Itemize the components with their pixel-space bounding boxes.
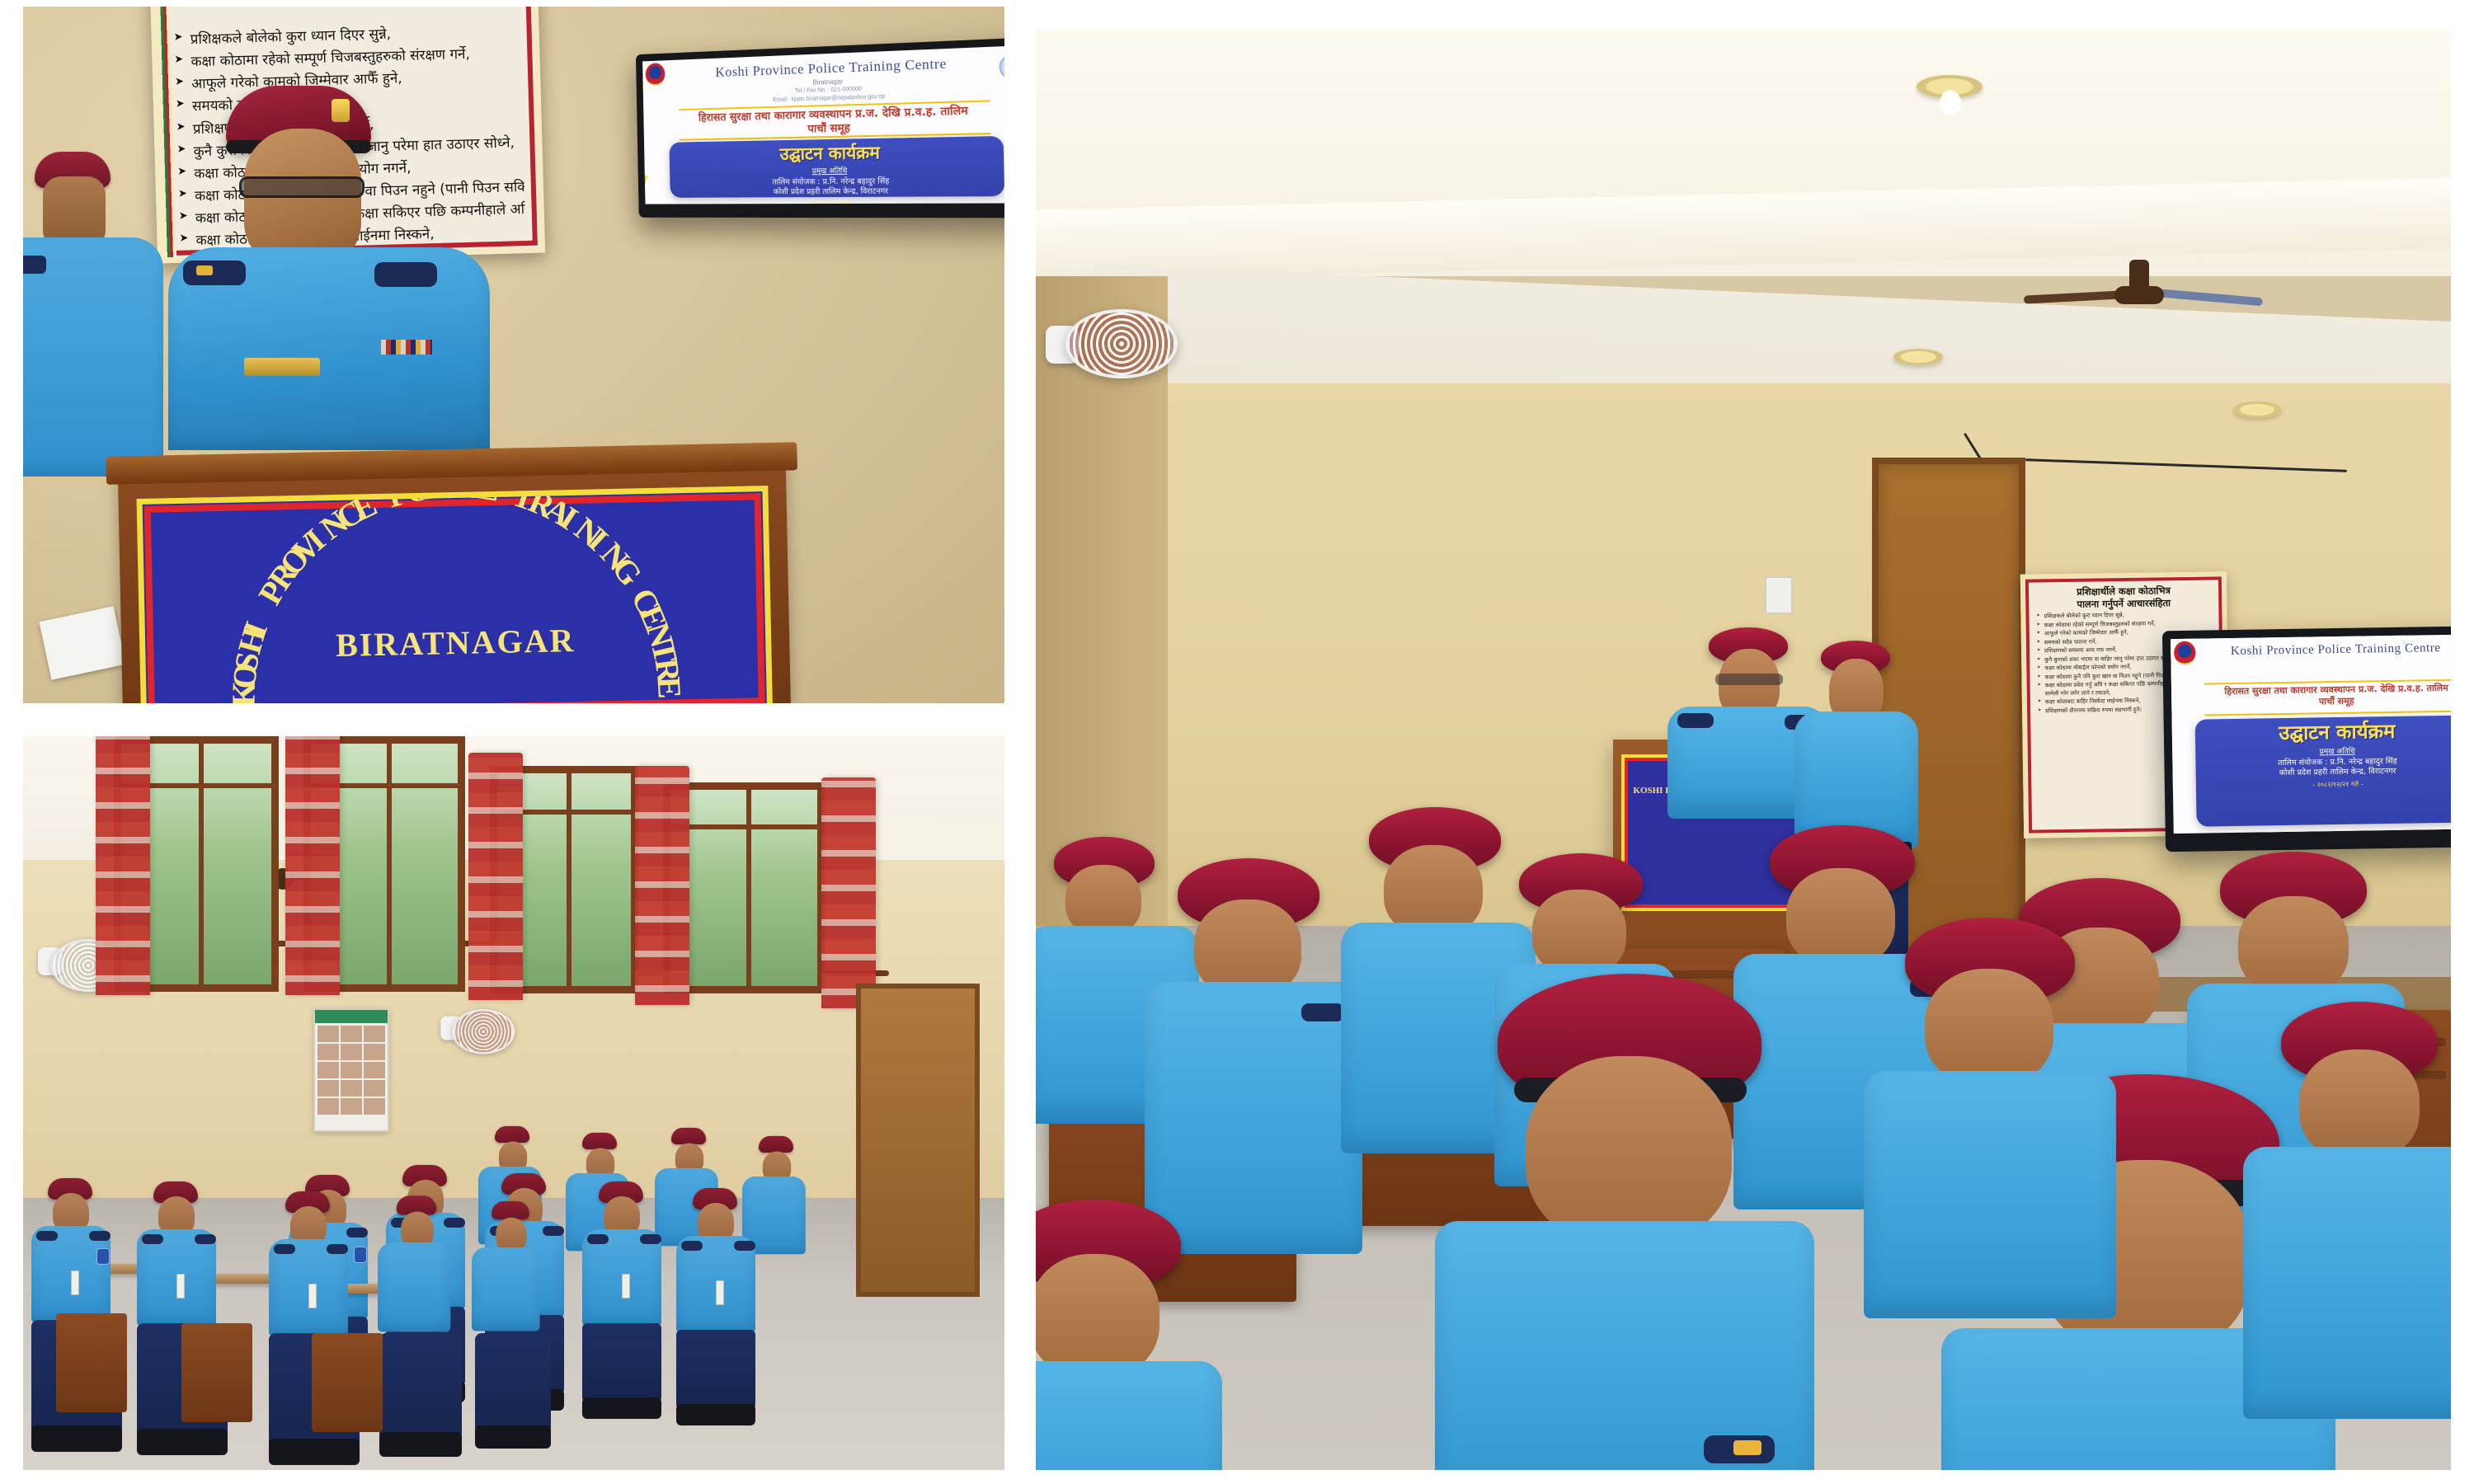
beret-badge-icon [332, 99, 350, 122]
eyeglasses-icon [239, 176, 365, 198]
boots [582, 1397, 661, 1419]
panel-classroom-wide [23, 736, 1004, 1470]
shoulder-epaulette [543, 1226, 564, 1236]
shoulder-badge-icon [97, 1249, 109, 1264]
head-back [1532, 890, 1626, 975]
police-uniform-shirt [23, 237, 163, 477]
power-socket-icon [1765, 576, 1793, 614]
wall-fan-icon [440, 1003, 518, 1062]
podium-banner-arc-letter: E [650, 675, 689, 699]
eyeglasses-icon [1715, 674, 1783, 685]
rank-insignia-icon [1733, 1440, 1761, 1455]
shoulder-epaulette [640, 1234, 661, 1244]
shoulder-epaulette [142, 1234, 163, 1244]
head-back [2299, 1050, 2420, 1160]
classroom-chair [56, 1313, 127, 1412]
podium-banner: KOSHI PROVINCE POLICE TRAINING CENTRE BI… [136, 486, 773, 703]
maroon-beret-icon [492, 1201, 529, 1219]
police-uniform-shirt [2243, 1147, 2451, 1419]
head-back [1526, 1056, 1732, 1246]
id-card-lanyard [716, 1280, 724, 1305]
window-curtain [821, 777, 876, 1008]
head-back [2238, 896, 2349, 995]
classroom-chair [312, 1333, 383, 1432]
shoulder-epaulette [444, 1218, 465, 1228]
shoulder-epaulette-left [183, 261, 246, 285]
rank-insignia-icon [196, 265, 213, 275]
wall-fan-icon [1046, 301, 1178, 400]
police-uniform-shirt [472, 1247, 540, 1331]
photo-collage: प्रशिक्षकले बोलेको कुरा ध्यान दिएर सुन्न… [0, 0, 2474, 1484]
poster-title: प्रशिक्षार्थीले कक्षा कोठाभित्र पालना गर… [2025, 584, 2222, 611]
awareness-poster [313, 1008, 389, 1132]
slide-program-heading: उद्घाटन कार्यक्रम [675, 141, 997, 164]
ceiling-light-icon [1893, 349, 1943, 365]
shoulder-epaulette [89, 1231, 111, 1241]
boots [31, 1425, 122, 1452]
window-curtain [468, 753, 523, 1000]
panel-speaker-at-podium: प्रशिक्षकले बोलेको कुरा ध्यान दिएर सुन्न… [23, 7, 1004, 703]
window-curtain [96, 736, 150, 995]
poster-title-line2: पालना गर्नुपर्ने आचारसंहिता [2077, 597, 2171, 610]
boots [269, 1439, 360, 1465]
uniform-trousers [582, 1323, 661, 1402]
shoulder-epaulette [1677, 713, 1714, 728]
poster-title-line1: प्रशिक्षार्थीले कक्षा कोठाभित्र [2077, 585, 2171, 598]
slide-program-box: उद्घाटन कार्यक्रम प्रमुख अतिथि तालिम संय… [2195, 715, 2451, 826]
uniform-trousers [379, 1333, 462, 1440]
head-back [1925, 969, 2053, 1086]
shoulder-epaulette [1301, 1003, 1344, 1021]
maroon-beret-icon [759, 1136, 793, 1153]
boots [676, 1404, 755, 1425]
classroom-door [856, 984, 980, 1297]
police-uniform-shirt [1864, 1071, 2116, 1318]
shoulder-epaulette [36, 1231, 58, 1241]
id-card-lanyard [622, 1274, 630, 1298]
slide-chief-guest-label: प्रमुख अतिथि [675, 162, 998, 176]
shoulder-epaulette [681, 1241, 703, 1251]
shoulder-epaulette [195, 1234, 216, 1244]
police-uniform-shirt [1145, 982, 1362, 1254]
police-uniform-shirt [1435, 1221, 1814, 1470]
maroon-beret-icon [671, 1128, 706, 1144]
ceiling-fan-icon [2024, 260, 2263, 309]
boots [379, 1432, 462, 1457]
ceiling-light-icon [2233, 402, 2281, 418]
ceiling-light-icon [1917, 75, 1982, 98]
shoulder-epaulette [587, 1234, 609, 1244]
slide-date: - २०८२/१२/२१ गते - [2203, 777, 2451, 791]
boots [137, 1429, 228, 1455]
presentation-screen: Koshi Province Police Training Centre Bi… [636, 37, 1004, 218]
slide-organisation: कोशी प्रदेश प्रहरी तालिम केन्द्र, विराटन… [675, 186, 998, 198]
speaker-officer [1686, 627, 1809, 801]
id-card-lanyard [71, 1270, 79, 1295]
slide-course-title: हिरासत सुरक्षा तथा कारागार व्यवस्थापन प्… [2191, 682, 2451, 710]
shoulder-epaulette [346, 1228, 368, 1237]
id-card-lanyard [176, 1274, 185, 1298]
window-curtain [285, 736, 340, 995]
officer-left-edge [23, 152, 180, 473]
speaker-officer [168, 86, 490, 440]
shoulder-epaulette [734, 1241, 755, 1251]
shoulder-epaulette [327, 1244, 348, 1254]
shoulder-epaulette [23, 256, 46, 274]
boots [475, 1425, 551, 1449]
slide-program-heading: उद्घाटन कार्यक्रम [2202, 720, 2451, 744]
podium-banner-arc-letter [492, 486, 509, 510]
slide-content: Koshi Province Police Training Centre Bi… [642, 45, 1004, 204]
police-uniform-shirt [378, 1242, 450, 1332]
panel-classroom-from-back: प्रशिक्षार्थीले कक्षा कोठाभित्र पालना गर… [1036, 29, 2451, 1470]
slide-date: - २०८२/१२/२१ गते - [676, 199, 999, 204]
name-tag [244, 358, 320, 376]
head-back [1786, 868, 1895, 967]
classroom-chair [181, 1323, 252, 1422]
maroon-beret-icon [495, 1126, 529, 1143]
podium-banner-arc-letter: I [441, 486, 455, 505]
speaking-podium: KOSHI PROVINCE POLICE TRAINING CENTRE BI… [118, 464, 791, 703]
window-curtain [635, 766, 689, 1005]
police-uniform-shirt [1036, 1361, 1222, 1470]
head-back [1036, 1254, 1159, 1378]
slide-program-box: उद्घाटन कार्यक्रम प्रमुख अतिथि तालिम संय… [669, 136, 1004, 198]
head [244, 129, 361, 267]
presentation-screen: Koshi Province Police Training Centre हि… [2162, 626, 2451, 852]
shoulder-badge-icon [355, 1247, 366, 1262]
shoulder-epaulette [274, 1244, 295, 1254]
medal-ribbon-bar [381, 340, 432, 355]
shoulder-epaulette-right [374, 262, 437, 287]
id-card-lanyard [308, 1284, 317, 1308]
uniform-trousers [676, 1330, 755, 1409]
slide-content: Koshi Province Police Training Centre हि… [2171, 634, 2451, 834]
maroon-beret-icon [582, 1133, 617, 1149]
uniform-trousers [475, 1333, 551, 1434]
